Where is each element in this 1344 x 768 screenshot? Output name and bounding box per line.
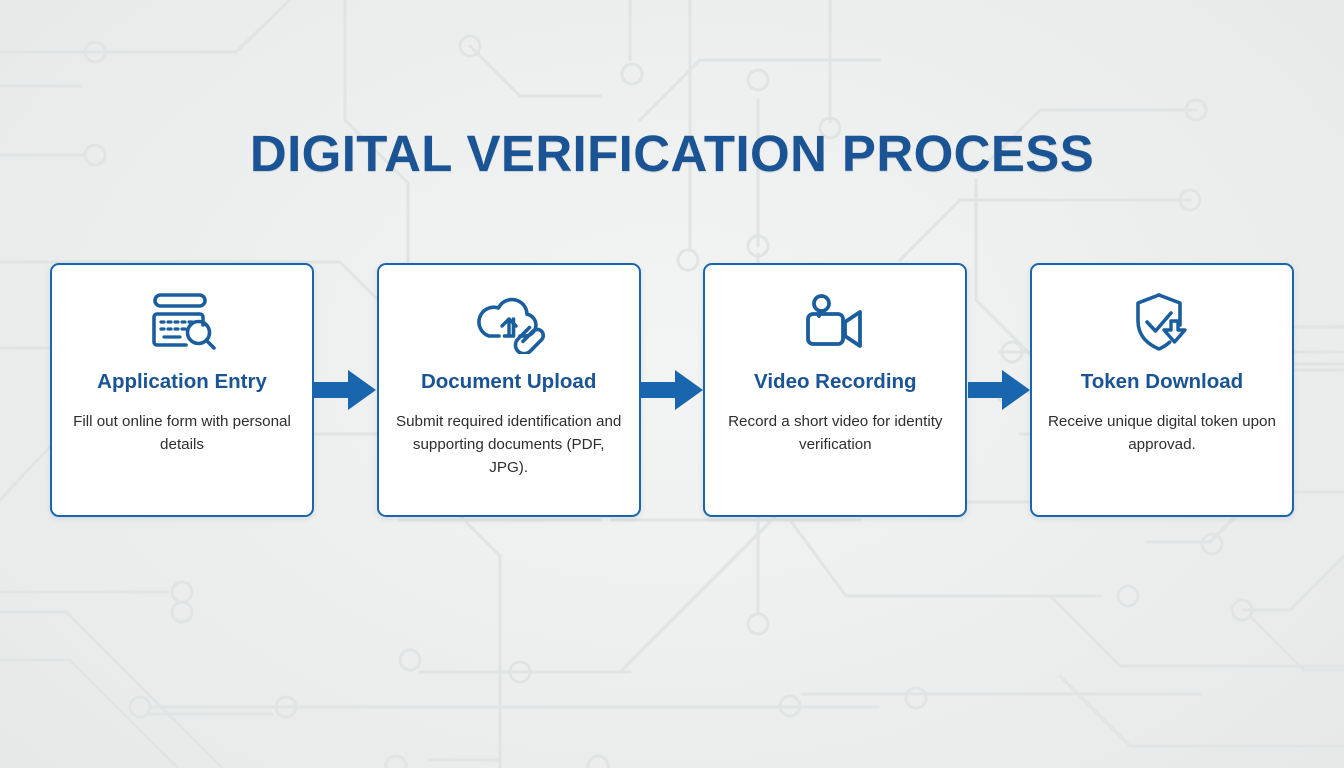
step-card-token-download[interactable]: Token Download Receive unique digital to… [1030,263,1294,517]
step-card-video-recording[interactable]: Video Recording Record a short video for… [703,263,967,517]
step-card-document-upload[interactable]: Document Upload Submit required identifi… [377,263,641,517]
flow-arrow-3 [968,366,1030,414]
step-description: Receive unique digital token upon approv… [1032,410,1292,456]
step-description: Submit required identification and suppo… [379,410,639,479]
step-title: Token Download [1081,371,1243,394]
keyboard-search-icon [144,289,220,357]
step-title: Video Recording [754,371,917,394]
step-card-application-entry[interactable]: Application Entry Fill out online form w… [50,263,314,517]
arrow-right-icon [641,368,703,412]
cloud-upload-paperclip-icon [471,289,547,357]
arrow-right-icon [314,368,376,412]
page-title: DIGITAL VERIFICATION PROCESS [0,124,1344,183]
arrow-right-icon [968,368,1030,412]
process-flow: Application Entry Fill out online form w… [50,263,1294,517]
shield-check-download-icon [1124,289,1200,357]
infographic-canvas: DIGITAL VERIFICATION PROCESS [0,0,1344,768]
step-description: Fill out online form with personal detai… [52,410,312,456]
flow-arrow-1 [314,366,376,414]
step-title: Document Upload [421,371,596,394]
step-description: Record a short video for identity verifi… [705,410,965,456]
video-camera-icon [797,289,873,357]
step-title: Application Entry [97,371,267,394]
flow-arrow-2 [641,366,703,414]
